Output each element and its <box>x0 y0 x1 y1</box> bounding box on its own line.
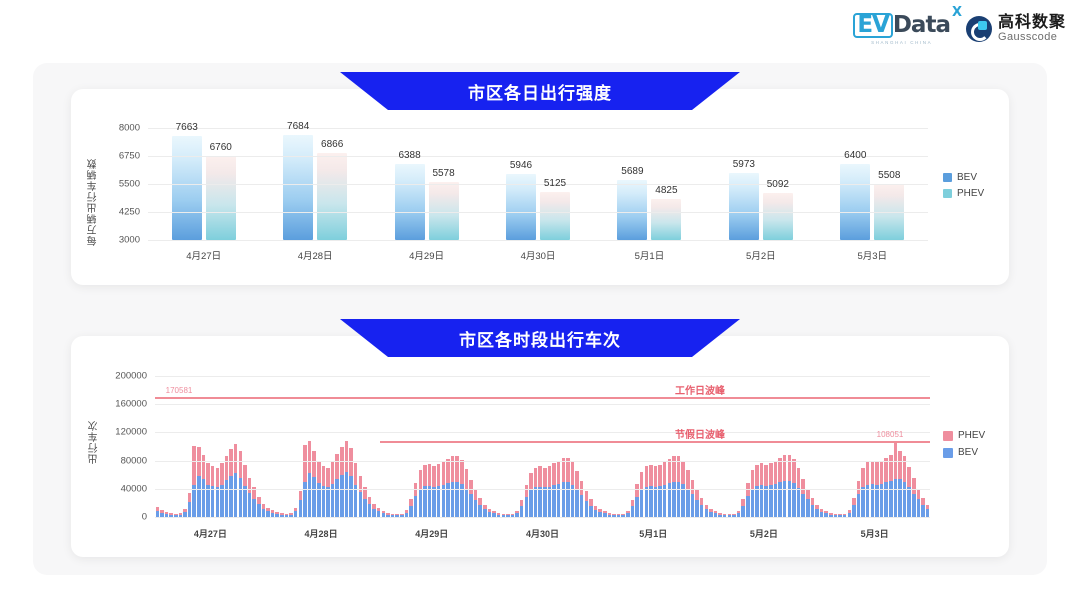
hourly-stacked-bar[interactable] <box>861 468 865 517</box>
hourly-bar-bev <box>811 505 815 517</box>
hourly-stacked-bar[interactable] <box>183 509 187 517</box>
hourly-stacked-bar[interactable] <box>907 467 911 517</box>
daily-bar-value-label: 5508 <box>878 170 900 181</box>
hourly-stacked-bar[interactable] <box>405 510 409 517</box>
hourly-bar-phev <box>243 465 247 486</box>
hourly-bar-bev <box>751 489 755 517</box>
hourly-bar-phev <box>912 478 916 494</box>
hourly-stacked-bar[interactable] <box>912 478 916 517</box>
daily-bar-value-label: 6400 <box>844 150 866 161</box>
hourly-stacked-bar[interactable] <box>538 466 542 517</box>
hourly-bar-bev <box>428 486 432 517</box>
hourly-bar-phev <box>852 498 856 505</box>
hourly-stacked-bar[interactable] <box>202 455 206 517</box>
hourly-bar-bev <box>543 487 547 517</box>
hourly-bar-phev <box>769 463 773 485</box>
hourly-bar-phev <box>898 451 902 479</box>
hourly-bar-phev <box>188 493 192 501</box>
hourly-stacked-bar[interactable] <box>691 480 695 517</box>
hourly-stacked-bar[interactable] <box>903 456 907 517</box>
hourly-bar-bev <box>741 506 745 517</box>
hourly-bar-phev <box>663 462 667 485</box>
hourly-stacked-bar[interactable] <box>520 500 524 517</box>
hourly-stacked-bar[interactable] <box>308 441 312 517</box>
hourly-bar-phev <box>783 455 787 481</box>
hourly-stacked-bar[interactable] <box>783 455 787 517</box>
hourly-bar-phev <box>239 451 243 478</box>
hourly-bar-bev <box>368 504 372 517</box>
daily-bar-bev[interactable] <box>395 164 425 240</box>
daily-bar-bev[interactable] <box>283 135 313 240</box>
hourly-stacked-bar[interactable] <box>741 499 745 517</box>
hourly-stacked-bar[interactable] <box>432 466 436 517</box>
hourly-stacked-bar[interactable] <box>778 458 782 517</box>
hourly-stacked-bar[interactable] <box>474 490 478 517</box>
hourly-stacked-bar[interactable] <box>852 498 856 517</box>
legend-item-phev[interactable]: PHEV <box>943 430 985 441</box>
hourly-bar-bev <box>354 485 358 517</box>
hourly-bar-bev <box>483 509 487 517</box>
hourly-stacked-bar[interactable] <box>299 491 303 517</box>
hourly-stacked-bar[interactable] <box>589 499 593 517</box>
evdata-ev-text: EV <box>853 13 893 39</box>
hourly-bar-bev <box>672 482 676 517</box>
hourly-stacked-bar[interactable] <box>751 470 755 517</box>
hourly-bar-phev <box>331 462 335 484</box>
hourly-stacked-bar[interactable] <box>894 441 898 517</box>
hourly-stacked-bar[interactable] <box>848 510 852 517</box>
hourly-bar-phev <box>326 468 330 488</box>
hourly-bar-bev <box>409 506 413 517</box>
hourly-stacked-bar[interactable] <box>705 505 709 517</box>
hourly-bar-bev <box>340 475 344 517</box>
hourly-stacked-bar[interactable] <box>478 498 482 517</box>
hourly-bar-phev <box>695 490 699 500</box>
hourly-bar-bev <box>783 481 787 517</box>
hourly-bar-bev <box>188 502 192 518</box>
hourly-bar-phev <box>585 491 589 501</box>
daily-x-axis-tick: 4月29日 <box>409 248 444 262</box>
hourly-stacked-bar[interactable] <box>428 464 432 517</box>
daily-y-axis-label: 每万辆出行车辆数 <box>86 122 101 246</box>
hourly-bar-phev <box>220 463 224 484</box>
hourly-stacked-bar[interactable] <box>160 510 164 517</box>
y-axis-tick: 6750 <box>119 151 140 162</box>
hourly-stacked-bar[interactable] <box>534 468 538 517</box>
hourly-bar-phev <box>755 465 759 486</box>
hourly-bar-phev <box>529 473 533 490</box>
hourly-stacked-bar[interactable] <box>359 476 363 517</box>
hourly-bar-bev <box>548 487 552 517</box>
hourly-stacked-bar[interactable] <box>225 456 229 517</box>
hourly-bar-phev <box>368 497 372 505</box>
hourly-bar-phev <box>469 480 473 495</box>
legend-item-bev[interactable]: BEV <box>943 172 984 183</box>
hourly-stacked-bar[interactable] <box>465 469 469 517</box>
hourly-bar-phev <box>792 459 796 483</box>
hourly-bar-bev <box>760 485 764 517</box>
hourly-trips-chart: 出行车次040000800001200001600002000004月27日4月… <box>155 376 930 517</box>
hourly-stacked-bar[interactable] <box>326 468 330 517</box>
hourly-stacked-bar[interactable] <box>640 472 644 517</box>
hourly-bar-phev <box>345 441 349 472</box>
daily-bar-value-label: 7684 <box>287 121 309 132</box>
daily-bar-phev[interactable] <box>206 156 236 240</box>
hourly-stacked-bar[interactable] <box>483 505 487 517</box>
daily-bar-value-label: 5689 <box>621 166 643 177</box>
hourly-stacked-bar[interactable] <box>525 485 529 517</box>
hourly-stacked-bar[interactable] <box>921 498 925 517</box>
hourly-x-axis-tick: 4月27日 <box>194 527 227 540</box>
hourly-bar-bev <box>806 499 810 517</box>
legend-label: PHEV <box>957 188 984 199</box>
evdata-data-text: Data <box>893 12 950 38</box>
hourly-x-axis-tick: 5月2日 <box>750 527 778 540</box>
daily-x-axis-tick: 4月27日 <box>186 248 221 262</box>
hourly-stacked-bar[interactable] <box>197 447 201 518</box>
daily-bar-bev[interactable] <box>840 164 870 240</box>
y-axis-tick: 0 <box>142 512 147 523</box>
hourly-bar-phev <box>668 459 672 483</box>
hourly-stacked-bar[interactable] <box>188 493 192 517</box>
hourly-bar-bev <box>243 486 247 517</box>
hourly-stacked-bar[interactable] <box>672 456 676 517</box>
hourly-bar-bev <box>677 482 681 517</box>
daily-intensity-chart: 每万辆出行车辆数30004250550067508000766367604月27… <box>148 128 928 240</box>
daily-bar-phev[interactable] <box>651 199 681 240</box>
hourly-bar-bev <box>538 487 542 517</box>
hourly-bar-bev <box>451 482 455 517</box>
daily-bar-bev[interactable] <box>172 136 202 240</box>
hourly-bar-bev <box>691 494 695 517</box>
hourly-stacked-bar[interactable] <box>488 509 492 517</box>
hourly-bar-bev <box>202 479 206 517</box>
hourly-bar-phev <box>760 463 764 485</box>
hourly-stacked-bar[interactable] <box>649 465 653 517</box>
hourly-x-axis-tick: 5月3日 <box>861 527 889 540</box>
hourly-stacked-bar[interactable] <box>211 466 215 517</box>
hourly-bar-phev <box>548 466 552 486</box>
hourly-bar-bev <box>534 487 538 517</box>
hourly-bar-phev <box>354 463 358 485</box>
hourly-stacked-bar[interactable] <box>552 463 556 517</box>
hourly-stacked-bar[interactable] <box>446 459 450 518</box>
hourly-stacked-bar[interactable] <box>372 504 376 517</box>
daily-bar-value-label: 5092 <box>767 179 789 190</box>
daily-bar-value-label: 5946 <box>510 160 532 171</box>
hourly-stacked-bar[interactable] <box>243 465 247 517</box>
hourly-bar-phev <box>640 472 644 490</box>
hourly-bar-phev <box>474 490 478 501</box>
hourly-stacked-bar[interactable] <box>806 489 810 517</box>
hourly-stacked-bar[interactable] <box>797 468 801 517</box>
hourly-stacked-bar[interactable] <box>271 510 275 517</box>
hourly-stacked-bar[interactable] <box>248 478 252 517</box>
hourly-stacked-bar[interactable] <box>760 463 764 517</box>
hourly-bar-phev <box>575 471 579 489</box>
hourly-bar-bev <box>419 489 423 517</box>
hourly-bar-bev <box>349 476 353 517</box>
hourly-bar-phev <box>525 485 529 497</box>
hourly-bar-bev <box>326 487 330 517</box>
hourly-bar-phev <box>797 468 801 488</box>
hourly-bar-bev <box>520 506 524 517</box>
weekday-peak-line <box>155 397 930 399</box>
hourly-stacked-bar[interactable] <box>755 465 759 517</box>
hourly-stacked-bar[interactable] <box>820 509 824 517</box>
hourly-stacked-bar[interactable] <box>695 490 699 517</box>
hourly-bar-phev <box>432 466 436 487</box>
hourly-bar-bev <box>257 504 261 517</box>
daily-bar-value-label: 6866 <box>321 139 343 150</box>
hourly-bar-phev <box>229 449 233 476</box>
hourly-bar-bev <box>363 499 367 517</box>
hourly-stacked-bar[interactable] <box>266 508 270 517</box>
gausscode-wordmark: 高科数聚 Gausscode <box>998 15 1066 43</box>
evdata-subtitle: SHANGHAI CHINA <box>871 40 932 45</box>
hourly-stacked-bar[interactable] <box>262 504 266 517</box>
hourly-stacked-bar[interactable] <box>252 487 256 517</box>
hourly-stacked-bar[interactable] <box>548 466 552 517</box>
gridline <box>148 156 928 157</box>
hourly-bar-bev <box>746 496 750 517</box>
hourly-bar-bev <box>308 473 312 517</box>
hourly-bar-phev <box>234 444 238 474</box>
hourly-bar-bev <box>580 495 584 517</box>
hourly-bar-phev <box>917 489 921 500</box>
hourly-bar-phev <box>649 465 653 486</box>
hourly-bar-phev <box>589 499 593 506</box>
hourly-bar-phev <box>806 489 810 500</box>
legend-label: PHEV <box>958 430 985 441</box>
hourly-bar-bev <box>414 496 418 517</box>
hourly-bar-phev <box>257 497 261 505</box>
hourly-stacked-bar[interactable] <box>815 505 819 517</box>
hourly-stacked-bar[interactable] <box>926 505 930 517</box>
hourly-bar-bev <box>894 479 898 517</box>
hourly-stacked-bar[interactable] <box>543 468 547 517</box>
hourly-stacked-bar[interactable] <box>857 481 861 517</box>
hourly-stacked-bar[interactable] <box>645 466 649 517</box>
hourly-bar-bev <box>926 509 930 517</box>
hourly-bar-phev <box>866 462 870 485</box>
hourly-bar-bev <box>898 479 902 517</box>
hourly-bar-phev <box>460 460 464 484</box>
hourly-stacked-bar[interactable] <box>811 498 815 517</box>
hourly-x-axis-tick: 4月28日 <box>305 527 338 540</box>
hourly-stacked-bar[interactable] <box>437 464 441 517</box>
hourly-stacked-bar[interactable] <box>598 509 602 517</box>
legend-label: BEV <box>958 447 978 458</box>
evdata-x-icon: X <box>952 6 961 19</box>
gausscode-cn-text: 高科数聚 <box>998 15 1066 32</box>
hourly-bar-bev <box>197 476 201 517</box>
hourly-stacked-bar[interactable] <box>769 463 773 517</box>
hourly-stacked-bar[interactable] <box>562 458 566 517</box>
hourly-bar-bev <box>852 505 856 517</box>
daily-bar-phev[interactable] <box>763 193 793 240</box>
daily-bar-bev[interactable] <box>617 180 647 240</box>
hourly-stacked-bar[interactable] <box>192 446 196 517</box>
hourly-bar-bev <box>764 486 768 517</box>
hourly-stacked-bar[interactable] <box>354 463 358 517</box>
hourly-bar-phev <box>801 479 805 494</box>
hourly-stacked-bar[interactable] <box>658 465 662 517</box>
daily-bar-phev[interactable] <box>317 153 347 240</box>
hourly-bar-phev <box>303 445 307 482</box>
hourly-stacked-bar[interactable] <box>423 465 427 517</box>
hourly-stacked-bar[interactable] <box>585 491 589 517</box>
hourly-bar-bev <box>478 505 482 517</box>
hourly-bar-phev <box>446 459 450 484</box>
hourly-bar-bev <box>432 487 436 517</box>
legend-label: BEV <box>957 172 977 183</box>
hourly-stacked-bar[interactable] <box>335 454 339 517</box>
legend-item-bev[interactable]: BEV <box>943 447 985 458</box>
hourly-stacked-bar[interactable] <box>234 444 238 517</box>
hourly-bar-phev <box>216 468 220 487</box>
hourly-trips-title-banner: 市区各时段出行车次 <box>340 319 740 357</box>
y-axis-tick: 200000 <box>115 371 147 382</box>
hourly-bar-phev <box>645 466 649 486</box>
hourly-bar-phev <box>335 454 339 479</box>
hourly-stacked-bar[interactable] <box>631 500 635 517</box>
hourly-stacked-bar[interactable] <box>229 449 233 517</box>
hourly-bar-phev <box>192 446 196 485</box>
hourly-bar-phev <box>423 465 427 486</box>
gausscode-logo: 高科数聚 Gausscode <box>966 15 1066 43</box>
hourly-stacked-bar[interactable] <box>580 481 584 517</box>
hourly-chart-legend: PHEVBEV <box>943 430 985 464</box>
hourly-stacked-bar[interactable] <box>303 445 307 517</box>
hourly-bar-bev <box>907 487 911 517</box>
hourly-bar-bev <box>700 505 704 517</box>
legend-swatch-icon <box>943 173 952 182</box>
daily-bar-phev[interactable] <box>540 192 570 240</box>
hourly-stacked-bar[interactable] <box>529 473 533 517</box>
daily-bar-value-label: 5973 <box>733 159 755 170</box>
daily-x-axis-tick: 5月1日 <box>635 248 665 262</box>
hourly-stacked-bar[interactable] <box>686 470 690 517</box>
hourly-stacked-bar[interactable] <box>788 455 792 517</box>
hourly-stacked-bar[interactable] <box>801 479 805 517</box>
hourly-bar-bev <box>299 500 303 517</box>
hourly-bar-phev <box>871 461 875 484</box>
y-axis-tick: 160000 <box>115 399 147 410</box>
hourly-stacked-bar[interactable] <box>156 507 160 517</box>
hourly-bar-bev <box>594 510 598 517</box>
daily-x-axis-tick: 4月28日 <box>298 248 333 262</box>
hourly-stacked-bar[interactable] <box>469 480 473 517</box>
hourly-stacked-bar[interactable] <box>884 458 888 517</box>
gridline <box>155 517 930 518</box>
daily-bar-value-label: 4825 <box>655 185 677 196</box>
hourly-stacked-bar[interactable] <box>700 498 704 517</box>
hourly-bar-bev <box>312 477 316 517</box>
hourly-bar-bev <box>631 506 635 517</box>
hourly-stacked-bar[interactable] <box>419 470 423 517</box>
hourly-stacked-bar[interactable] <box>764 465 768 517</box>
daily-intensity-title-banner: 市区各日出行强度 <box>340 72 740 110</box>
hourly-bar-bev <box>423 486 427 517</box>
hourly-bar-bev <box>788 481 792 517</box>
hourly-bar-phev <box>764 465 768 486</box>
hourly-stacked-bar[interactable] <box>709 509 713 517</box>
hourly-stacked-bar[interactable] <box>257 497 261 517</box>
hourly-stacked-bar[interactable] <box>594 506 598 517</box>
hourly-bar-phev <box>788 455 792 481</box>
gridline <box>148 212 928 213</box>
weekday-peak-label: 工作日波峰 <box>675 382 725 397</box>
hourly-bar-bev <box>225 480 229 517</box>
hourly-stacked-bar[interactable] <box>575 471 579 517</box>
hourly-stacked-bar[interactable] <box>216 468 220 517</box>
hourly-stacked-bar[interactable] <box>677 456 681 517</box>
hourly-bar-bev <box>211 486 215 517</box>
daily-x-axis-tick: 5月2日 <box>746 248 776 262</box>
hourly-bar-phev <box>428 464 432 486</box>
hourly-stacked-bar[interactable] <box>889 455 893 517</box>
y-axis-tick: 5500 <box>119 179 140 190</box>
hourly-bar-phev <box>571 462 575 485</box>
hourly-bar-bev <box>658 486 662 517</box>
hourly-stacked-bar[interactable] <box>363 487 367 517</box>
hourly-stacked-bar[interactable] <box>345 441 349 517</box>
legend-item-phev[interactable]: PHEV <box>943 188 984 199</box>
hourly-bar-phev <box>686 470 690 489</box>
hourly-bar-bev <box>345 472 349 517</box>
hourly-bar-bev <box>303 482 307 517</box>
hourly-bar-bev <box>778 482 782 517</box>
hourly-stacked-bar[interactable] <box>566 458 570 517</box>
holiday-peak-value: 108051 <box>877 430 904 439</box>
hourly-stacked-bar[interactable] <box>206 463 210 517</box>
logo-bar: EVDataX SHANGHAI CHINA 高科数聚 Gausscode <box>0 0 1080 58</box>
hourly-bar-bev <box>252 499 256 517</box>
hourly-bar-phev <box>543 468 547 488</box>
hourly-stacked-bar[interactable] <box>349 448 353 517</box>
hourly-bar-phev <box>478 498 482 505</box>
hourly-x-axis-tick: 4月29日 <box>415 527 448 540</box>
hourly-bar-bev <box>884 482 888 517</box>
hourly-stacked-bar[interactable] <box>377 508 381 517</box>
hourly-stacked-bar[interactable] <box>294 508 298 517</box>
hourly-stacked-bar[interactable] <box>654 466 658 517</box>
hourly-bar-bev <box>455 482 459 517</box>
hourly-bar-bev <box>262 509 266 517</box>
hourly-bar-phev <box>921 498 925 505</box>
hourly-bar-bev <box>322 486 326 517</box>
hourly-stacked-bar[interactable] <box>455 456 459 517</box>
hourly-bar-phev <box>534 468 538 488</box>
y-axis-tick: 80000 <box>121 455 147 466</box>
hourly-bar-bev <box>695 500 699 517</box>
hourly-stacked-bar[interactable] <box>917 489 921 517</box>
hourly-bar-bev <box>921 505 925 517</box>
y-axis-tick: 8000 <box>119 123 140 134</box>
hourly-stacked-bar[interactable] <box>322 466 326 517</box>
y-axis-tick: 3000 <box>119 235 140 246</box>
hourly-bar-bev <box>529 490 533 517</box>
hourly-stacked-bar[interactable] <box>368 497 372 517</box>
daily-chart-legend: BEVPHEV <box>943 172 984 204</box>
hourly-stacked-bar[interactable] <box>220 463 224 517</box>
hourly-stacked-bar[interactable] <box>451 456 455 517</box>
gausscode-logo-icon <box>966 16 992 42</box>
hourly-stacked-bar[interactable] <box>340 447 344 518</box>
hourly-bar-phev <box>349 448 353 476</box>
hourly-stacked-bar[interactable] <box>409 499 413 517</box>
